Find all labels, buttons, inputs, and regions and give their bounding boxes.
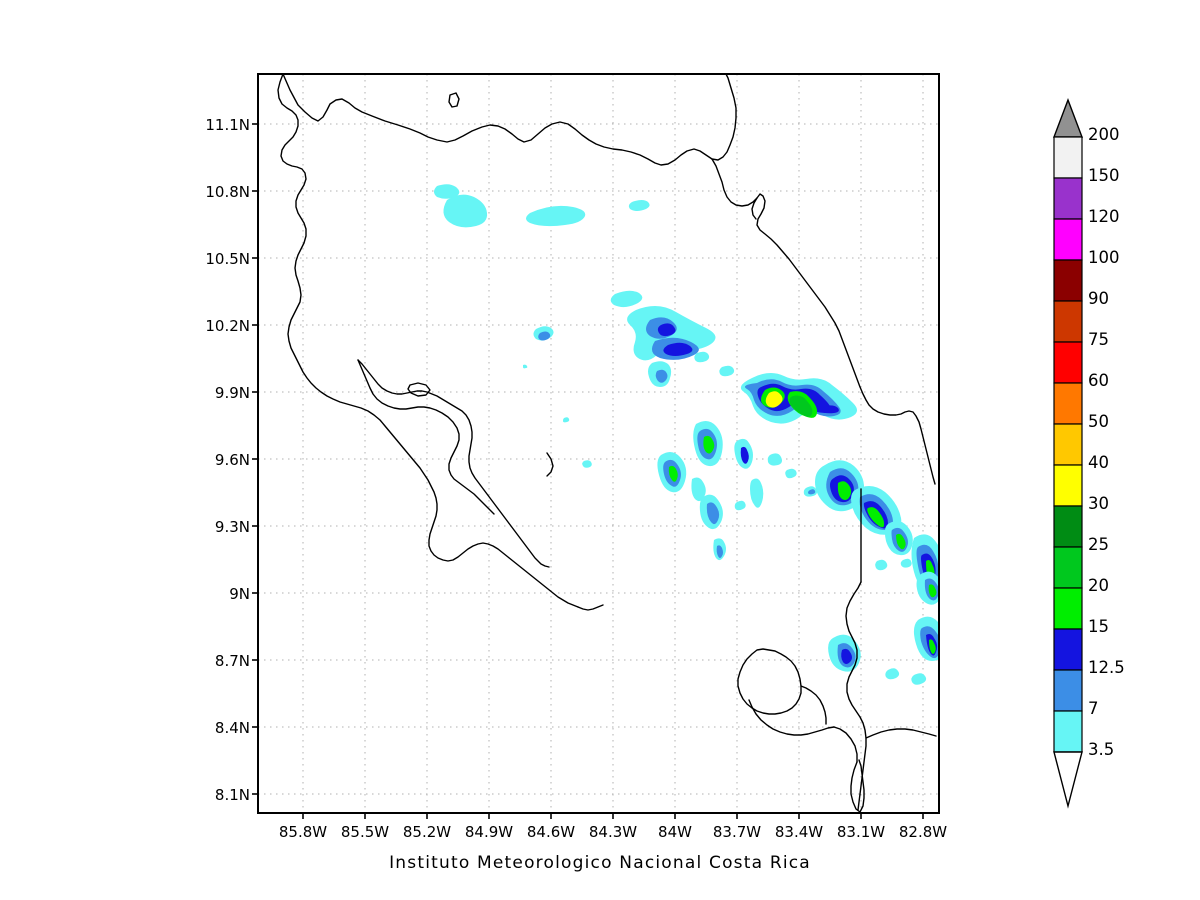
colorbar-label: 30 [1088, 494, 1109, 513]
colorbar-label: 20 [1088, 576, 1109, 595]
colorbar-label: 3.5 [1088, 740, 1114, 759]
colorbar-band [1054, 465, 1082, 506]
colorbar-label: 12.5 [1088, 658, 1125, 677]
colorbar-band [1054, 547, 1082, 588]
colorbar-label: 200 [1088, 125, 1120, 144]
colorbar-band [1054, 219, 1082, 260]
ytick-label: 9.9N [150, 384, 250, 402]
colorbar-band [1054, 260, 1082, 301]
colorbar-label: 60 [1088, 371, 1109, 390]
ytick-label: 8.7N [150, 652, 250, 670]
ytick-label: 10.8N [150, 183, 250, 201]
plot-area-background [258, 74, 939, 813]
ytick-label: 9.6N [150, 451, 250, 469]
ytick-label: 9.3N [150, 518, 250, 536]
precip-cell [582, 460, 592, 468]
colorbar-band [1054, 342, 1082, 383]
colorbar-band [1054, 670, 1082, 711]
ytick-label: 11.1N [150, 116, 250, 134]
colorbar-label: 100 [1088, 248, 1120, 267]
ytick-label: 10.5N [150, 250, 250, 268]
colorbar-band [1054, 424, 1082, 465]
colorbar-label: 90 [1088, 289, 1109, 308]
colorbar-label: 25 [1088, 535, 1109, 554]
colorbar-band [1054, 137, 1082, 178]
colorbar-band [1054, 506, 1082, 547]
ytick-label: 9N [150, 585, 250, 603]
colorbar-label: 150 [1088, 166, 1120, 185]
ytick-label: 8.4N [150, 719, 250, 737]
colorbar-band [1054, 383, 1082, 424]
colorbar-label: 15 [1088, 617, 1109, 636]
colorbar-band [1054, 629, 1082, 670]
colorbar-label: 40 [1088, 453, 1109, 472]
colorbar-band [1054, 178, 1082, 219]
colorbar-band [1054, 301, 1082, 342]
ytick-label: 8.1N [150, 786, 250, 804]
ytick-label: 10.2N [150, 317, 250, 335]
precipitation-map [0, 0, 1200, 900]
colorbar-label: 7 [1088, 699, 1099, 718]
colorbar-band [1054, 588, 1082, 629]
colorbar-label: 120 [1088, 207, 1120, 226]
colorbar-label: 50 [1088, 412, 1109, 431]
colorbar [1054, 100, 1082, 806]
xtick-label: 82.8W [883, 823, 963, 841]
colorbar-band [1054, 711, 1082, 752]
colorbar-label: 75 [1088, 330, 1109, 349]
footer-attribution: Instituto Meteorologico Nacional Costa R… [0, 853, 1200, 873]
